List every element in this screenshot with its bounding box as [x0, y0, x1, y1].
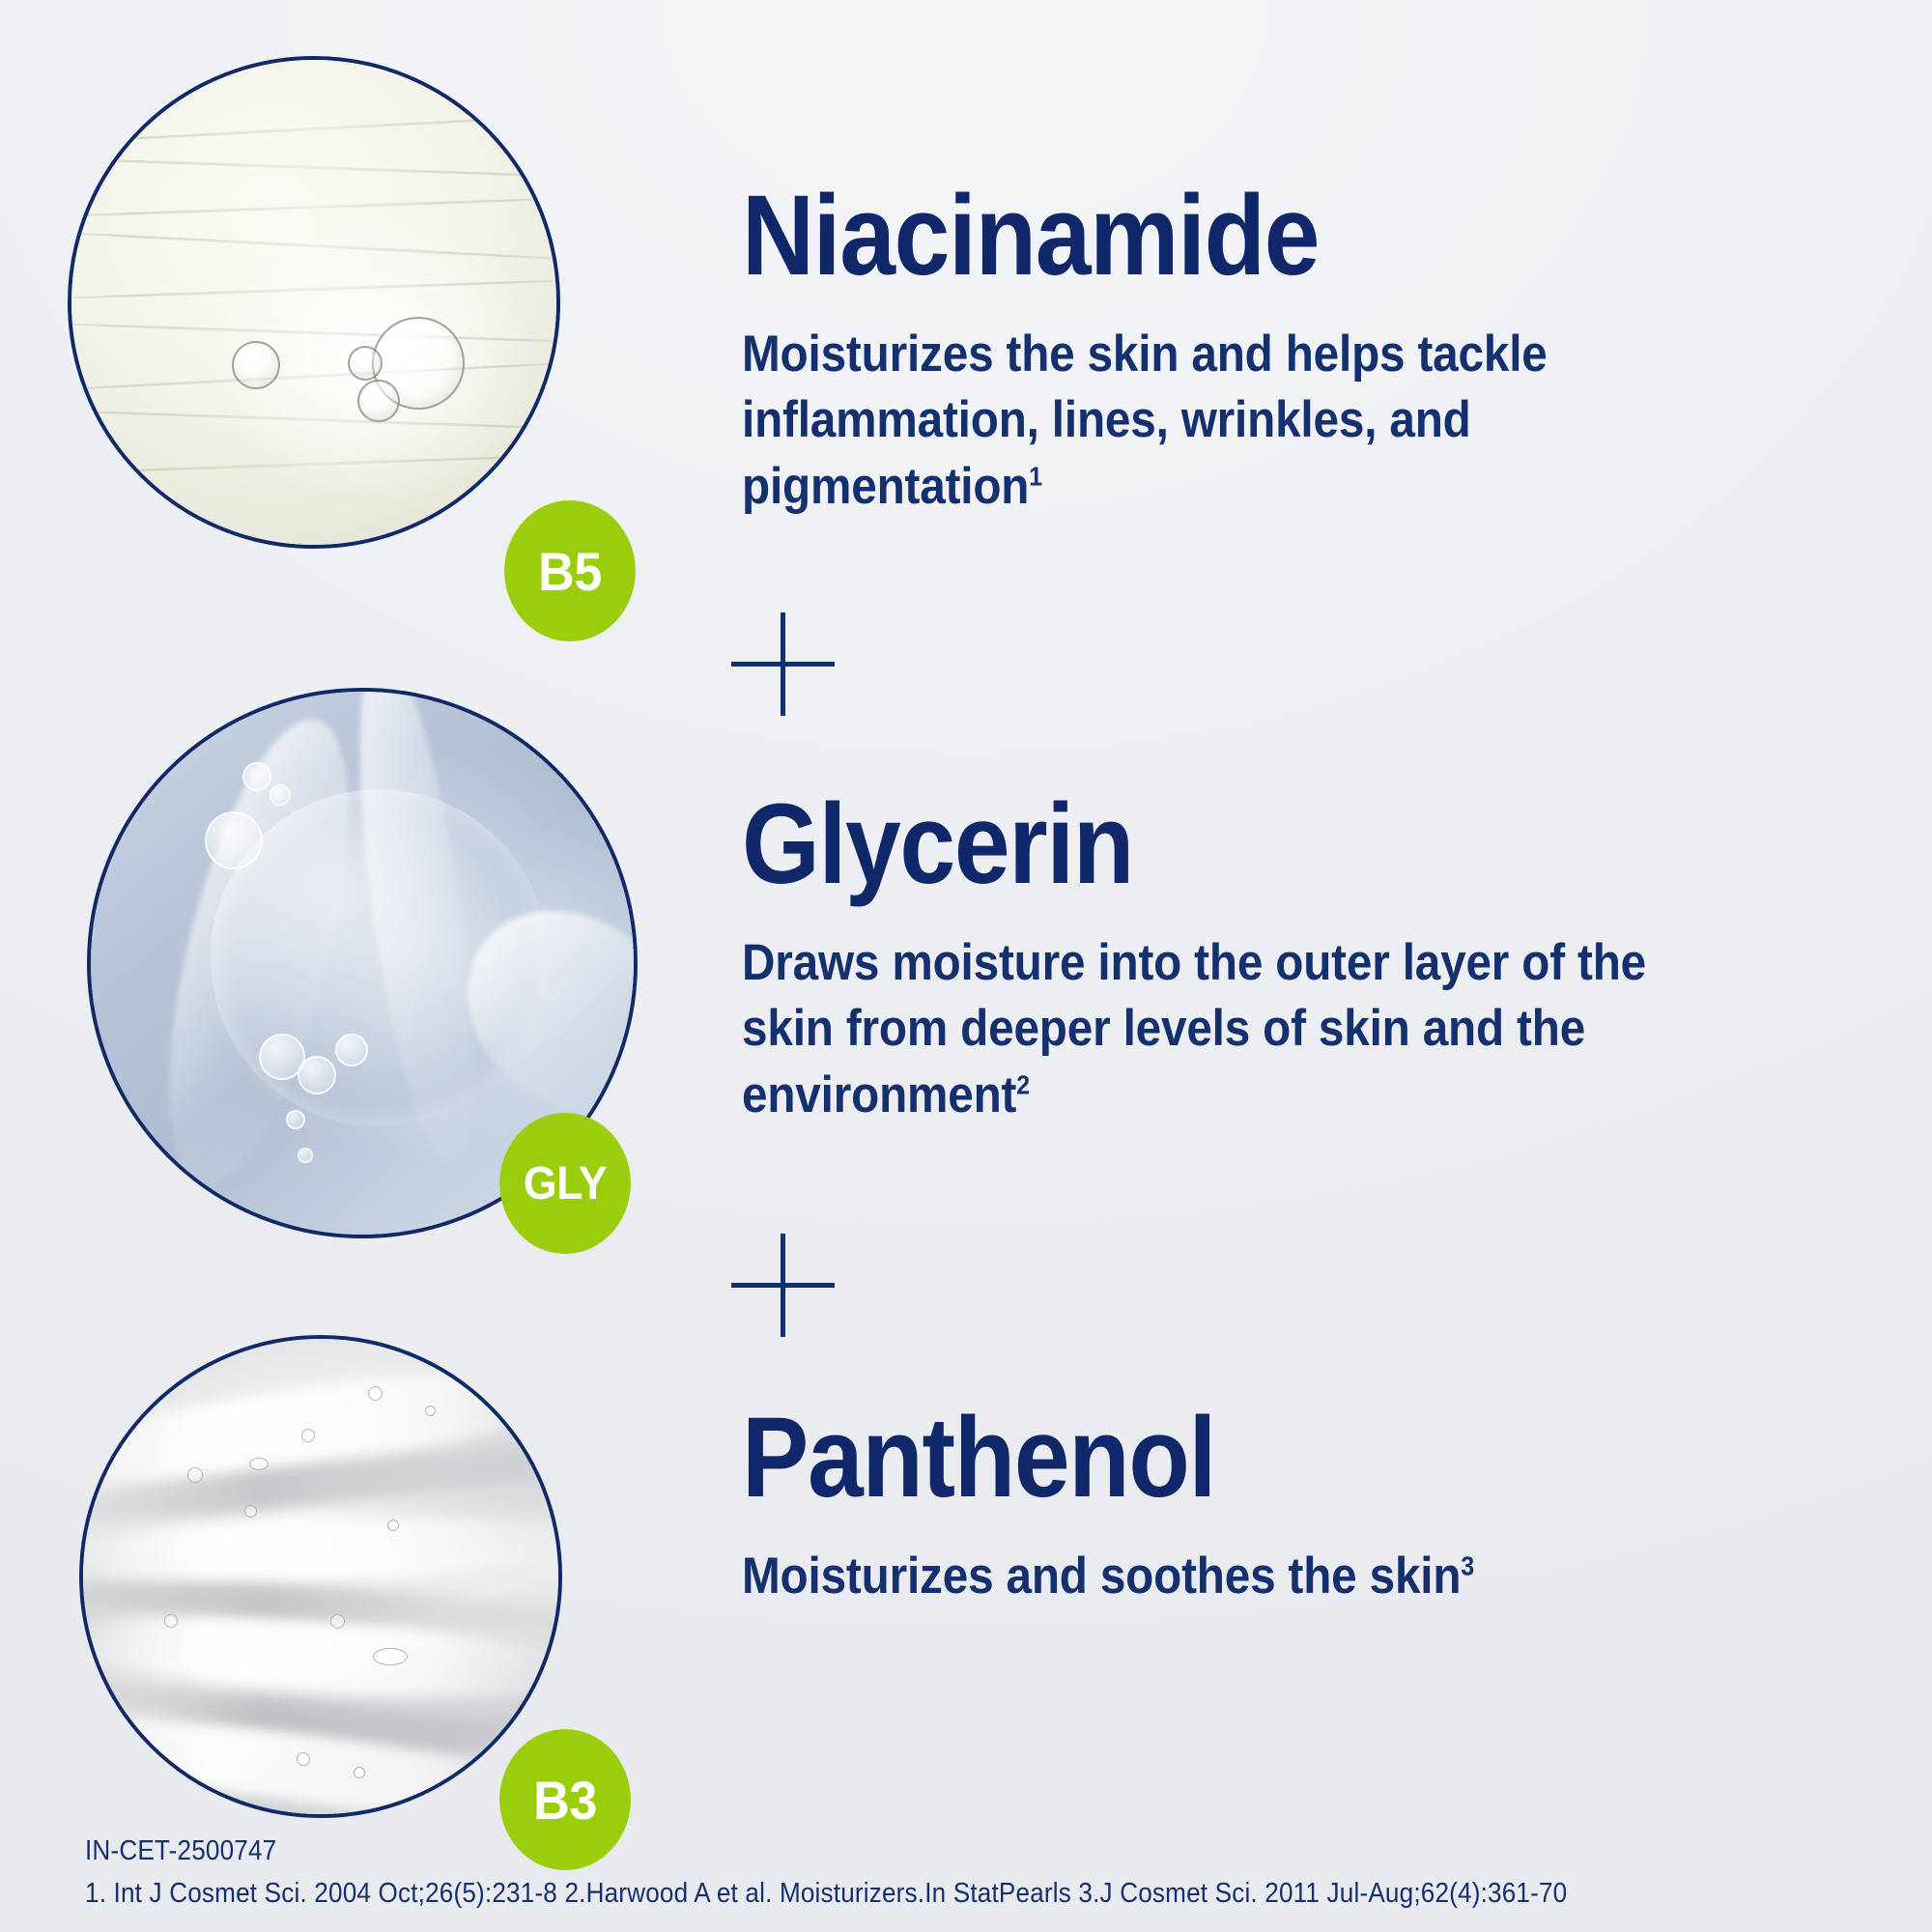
ingredient-description-panthenol: Moisturizes and soothes the skin3 [742, 1544, 1663, 1610]
ingredient-title-panthenol: Panthenol [742, 1406, 1643, 1511]
gel-texture-ivory [71, 60, 556, 545]
plus-icon [731, 1234, 835, 1337]
ingredient-text-glycerin: Glycerin Draws moisture into the outer l… [742, 792, 1766, 1129]
badge-label: GLY [524, 1157, 607, 1210]
ingredient-badge-b5: B5 [504, 500, 636, 641]
gel-bubble [286, 1110, 305, 1129]
ingredient-description-glycerin: Draws moisture into the outer layer of t… [742, 930, 1663, 1130]
footer: IN-CET-2500747 1. Int J Cosmet Sci. 2004… [85, 1835, 1567, 1910]
gel-bubble [335, 1034, 368, 1066]
gel-bubble [298, 1056, 336, 1094]
badge-label: B5 [538, 540, 602, 603]
gel-bubble [232, 341, 280, 389]
gel-bubble [270, 784, 291, 806]
footnote-marker: 2 [1016, 1070, 1030, 1100]
description-text: Draws moisture into the outer layer of t… [742, 934, 1646, 1124]
ingredient-text-panthenol: Panthenol Moisturizes and soothes the sk… [742, 1406, 1766, 1609]
gel-bubble [164, 1614, 178, 1628]
gel-bubble [373, 1648, 408, 1665]
gel-bubble [298, 1148, 313, 1163]
ingredient-badge-gly: GLY [499, 1113, 631, 1254]
ingredient-text-niacinamide: Niacinamide Moisturizes the skin and hel… [742, 184, 1669, 521]
footer-references: 1. Int J Cosmet Sci. 2004 Oct;26(5):231-… [85, 1878, 1567, 1910]
footer-code: IN-CET-2500747 [85, 1835, 1567, 1867]
description-text: Moisturizes the skin and helps tackle in… [742, 326, 1548, 516]
footnote-marker: 1 [1029, 462, 1042, 492]
gel-bubble [187, 1467, 203, 1483]
ingredient-image-niacinamide [68, 56, 560, 549]
plus-icon [731, 612, 835, 716]
ingredient-title-niacinamide: Niacinamide [742, 184, 1558, 289]
badge-label: B3 [533, 1769, 597, 1832]
gel-bubble [387, 1520, 399, 1531]
ingredient-image-panthenol [79, 1335, 562, 1818]
description-text: Moisturizes and soothes the skin [742, 1548, 1461, 1605]
footnote-marker: 3 [1461, 1550, 1474, 1580]
gel-bubble [205, 811, 263, 869]
ingredient-description-niacinamide: Moisturizes the skin and helps tackle in… [742, 322, 1577, 522]
ingredient-title-glycerin: Glycerin [742, 792, 1643, 897]
